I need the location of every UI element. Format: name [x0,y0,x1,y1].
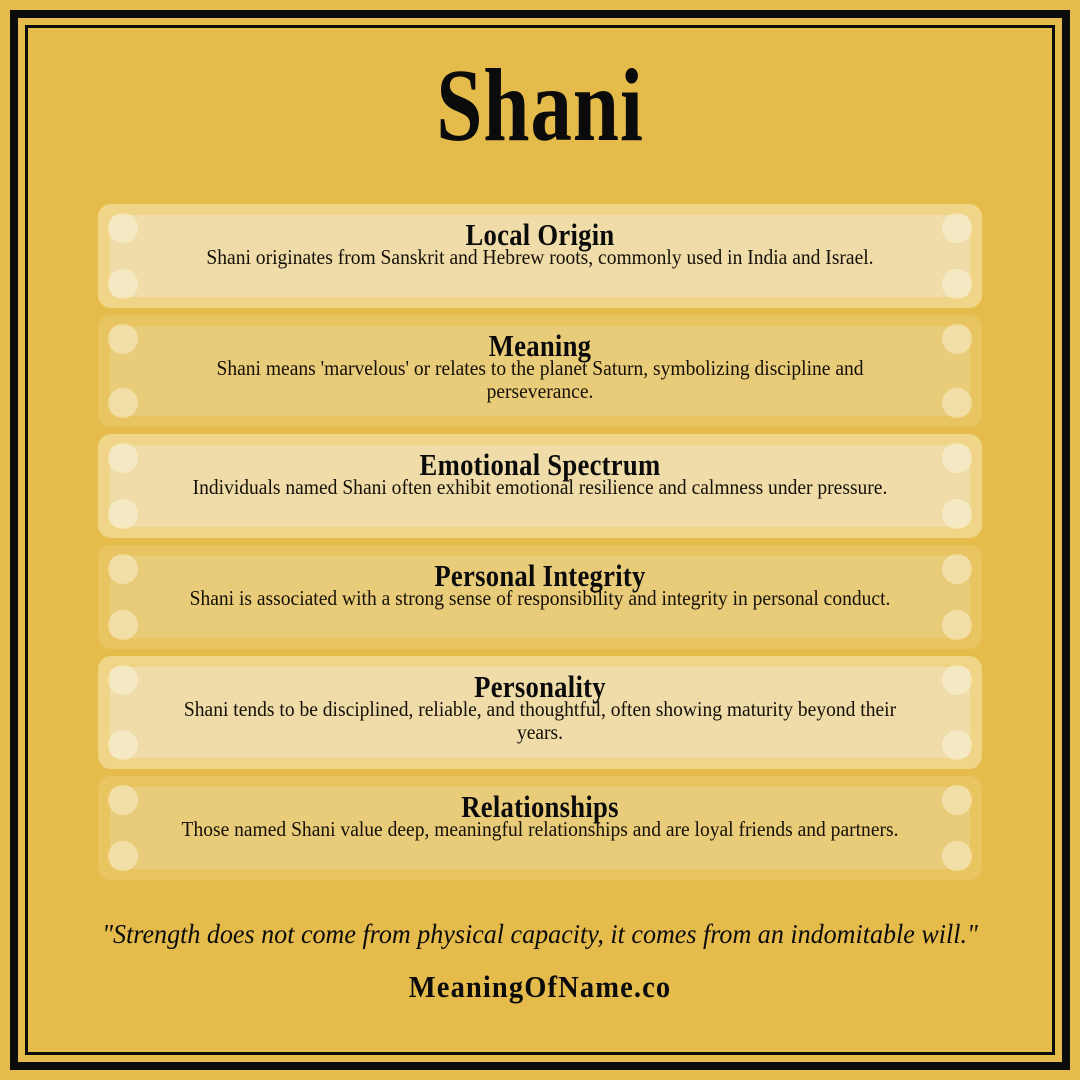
corner-dot-icon [108,610,138,640]
section-description: Those named Shani value deep, meaningful… [170,818,910,841]
corner-dot-icon [942,499,972,529]
corner-dot-icon [942,610,972,640]
corner-dot-icon [942,388,972,418]
section-card: PersonalityShani tends to be disciplined… [98,656,982,768]
brand-watermark: MeaningOfName.co [74,971,1005,1002]
corner-dot-icon [942,554,972,584]
corner-dot-icon [942,213,972,243]
outer-border-frame: Shani Local OriginShani originates from … [10,10,1070,1070]
corner-dot-icon [108,388,138,418]
corner-dot-icon [942,324,972,354]
section-card: MeaningShani means 'marvelous' or relate… [98,315,982,427]
corner-dot-icon [108,785,138,815]
footer-quote: "Strength does not come from physical ca… [52,920,1029,950]
corner-dot-icon [108,554,138,584]
corner-dot-icon [108,324,138,354]
corner-dot-icon [108,213,138,243]
corner-dot-icon [108,499,138,529]
corner-dot-icon [942,841,972,871]
section-description: Shani is associated with a strong sense … [170,587,910,610]
section-card: RelationshipsThose named Shani value dee… [98,776,982,880]
section-card-panel: Personal IntegrityShani is associated wi… [110,556,970,638]
section-card-panel: PersonalityShani tends to be disciplined… [110,667,970,757]
sections-list: Local OriginShani originates from Sanskr… [28,204,1052,880]
section-description: Shani means 'marvelous' or relates to th… [170,357,910,402]
section-description: Individuals named Shani often exhibit em… [170,476,910,499]
page-title: Shani [130,54,949,158]
footer: "Strength does not come from physical ca… [28,920,1052,1003]
section-description: Shani tends to be disciplined, reliable,… [170,698,910,743]
section-card-panel: Emotional SpectrumIndividuals named Shan… [110,445,970,527]
section-card: Personal IntegrityShani is associated wi… [98,545,982,649]
poster: Shani Local OriginShani originates from … [0,0,1080,1080]
corner-dot-icon [108,443,138,473]
section-card-panel: MeaningShani means 'marvelous' or relate… [110,326,970,416]
corner-dot-icon [942,730,972,760]
section-card: Local OriginShani originates from Sanskr… [98,204,982,308]
corner-dot-icon [108,665,138,695]
section-card-panel: Local OriginShani originates from Sanskr… [110,215,970,297]
corner-dot-icon [942,443,972,473]
corner-dot-icon [108,730,138,760]
section-card-panel: RelationshipsThose named Shani value dee… [110,787,970,869]
inner-border-frame: Shani Local OriginShani originates from … [25,25,1055,1055]
corner-dot-icon [108,269,138,299]
corner-dot-icon [942,785,972,815]
section-description: Shani originates from Sanskrit and Hebre… [170,246,910,269]
corner-dot-icon [942,269,972,299]
corner-dot-icon [942,665,972,695]
corner-dot-icon [108,841,138,871]
section-card: Emotional SpectrumIndividuals named Shan… [98,434,982,538]
